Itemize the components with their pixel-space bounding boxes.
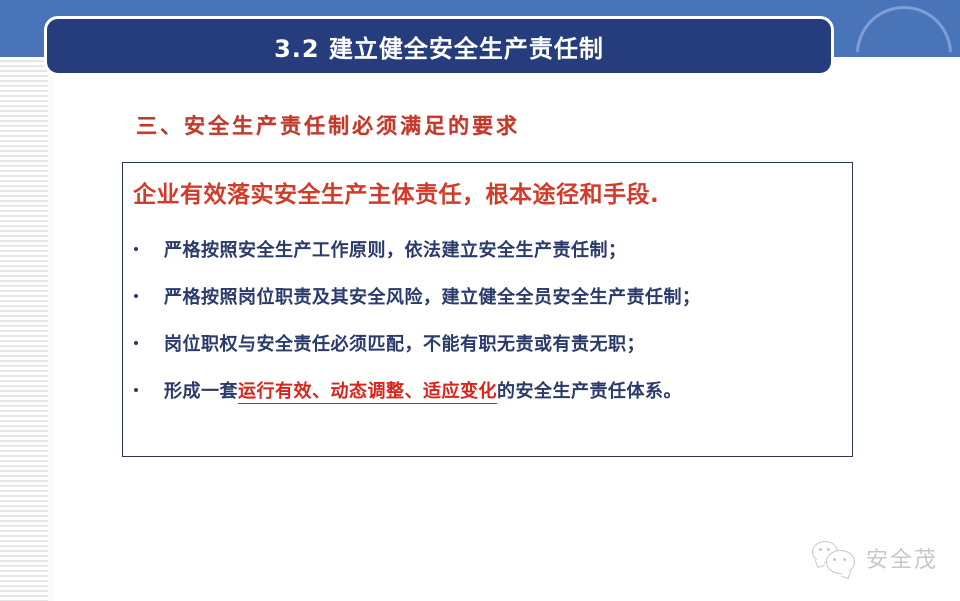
arc-decoration-icon <box>856 6 952 57</box>
bullet-segment: 的安全生产责任体系。 <box>497 381 682 402</box>
bullet-text: 岗位职权与安全责任必须匹配，不能有职无责或有责无职； <box>164 330 645 356</box>
section-heading: 三、安全生产责任制必须满足的要求 <box>136 110 520 140</box>
list-item: 严格按照岗位职责及其安全风险，建立健全全员安全生产责任制； <box>123 272 854 319</box>
wechat-bubble-front <box>826 550 855 574</box>
bullet-segment: 严格按照岗位职责及其安全风险，建立健全全员安全生产责任制； <box>164 287 701 308</box>
bullet-segment-highlight: 运行有效、动态调整、适应变化 <box>238 381 497 404</box>
bullet-dot-icon <box>134 341 138 345</box>
watermark-label: 安全茂 <box>866 542 938 574</box>
wechat-eye-dot <box>819 548 822 551</box>
bullet-dot-icon <box>134 247 138 251</box>
bullet-text: 严格按照岗位职责及其安全风险，建立健全全员安全生产责任制； <box>164 283 701 309</box>
watermark: 安全茂 <box>812 541 938 575</box>
bullet-segment: 形成一套 <box>164 381 238 402</box>
wechat-bubbles-icon <box>812 541 856 575</box>
bullet-segment: 岗位职权与安全责任必须匹配，不能有职无责或有责无职； <box>164 334 645 355</box>
bullet-dot-icon <box>134 388 138 392</box>
left-stripe-decoration <box>0 57 48 601</box>
wechat-eye-dot <box>843 558 846 561</box>
list-item: 严格按照安全生产工作原则，依法建立安全生产责任制； <box>123 225 854 272</box>
content-box: 企业有效落实安全生产主体责任，根本途径和手段. 严格按照安全生产工作原则，依法建… <box>122 162 853 457</box>
list-item: 岗位职权与安全责任必须匹配，不能有职无责或有责无职； <box>123 319 854 366</box>
bullet-segment: 严格按照安全生产工作原则，依法建立安全生产责任制； <box>164 240 627 261</box>
list-item: 形成一套运行有效、动态调整、适应变化的安全生产责任体系。 <box>123 366 854 413</box>
wechat-eye-dot <box>827 548 830 551</box>
slide-canvas: 3.2 建立健全安全生产责任制 三、安全生产责任制必须满足的要求 企业有效落实安… <box>0 0 960 601</box>
bullet-list: 严格按照安全生产工作原则，依法建立安全生产责任制； 严格按照岗位职责及其安全风险… <box>123 225 854 413</box>
bullet-dot-icon <box>134 294 138 298</box>
title-plate: 3.2 建立健全安全生产责任制 <box>47 19 831 73</box>
bullet-text: 形成一套运行有效、动态调整、适应变化的安全生产责任体系。 <box>164 377 682 403</box>
page-title: 3.2 建立健全安全生产责任制 <box>274 29 604 64</box>
bullet-text: 严格按照安全生产工作原则，依法建立安全生产责任制； <box>164 236 627 262</box>
wechat-eye-dot <box>833 558 836 561</box>
lead-statement: 企业有效落实安全生产主体责任，根本途径和手段. <box>133 175 659 209</box>
left-stripe-edge <box>48 57 54 601</box>
